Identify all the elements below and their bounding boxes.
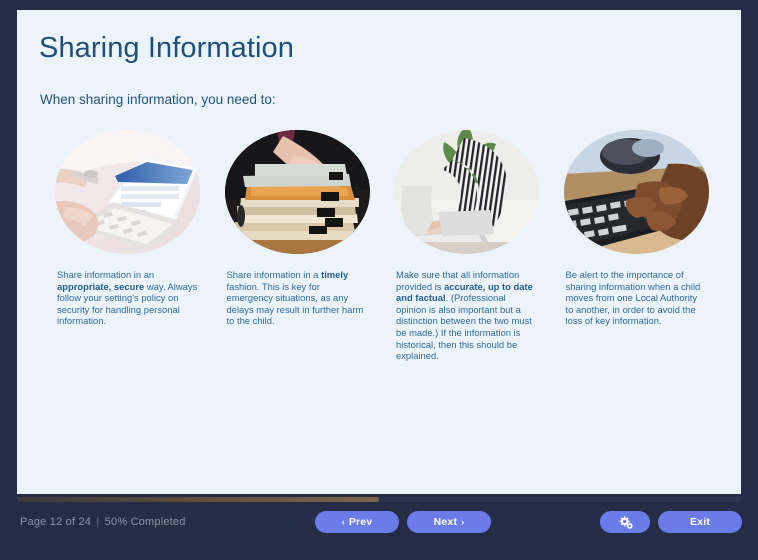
chevron-left-icon: ‹: [342, 518, 345, 527]
progress-bar-track[interactable]: [17, 497, 741, 502]
page-status: Page 12 of 24 | 50% Completed: [20, 516, 186, 528]
hands-typing-keyboard-mouse-photo: [564, 130, 709, 254]
content-column: Make sure that all information provided …: [379, 130, 549, 362]
prev-button-label: Prev: [349, 516, 373, 528]
slide-content-area: Sharing Information When sharing informa…: [17, 10, 741, 494]
player-footer: Page 12 of 24 | 50% Completed ‹ Prev Nex…: [0, 505, 758, 560]
content-columns: Share information in an appropriate, sec…: [40, 130, 718, 362]
page-number-label: Page 12 of 24: [20, 516, 91, 528]
column-text: Share information in an appropriate, sec…: [57, 269, 199, 327]
slide-subtitle: When sharing information, you need to:: [40, 92, 276, 107]
next-button-label: Next: [434, 516, 458, 528]
status-divider: |: [96, 516, 99, 528]
column-text: Share information in a timely fashion. T…: [227, 269, 369, 327]
course-player-frame: Sharing Information When sharing informa…: [0, 0, 758, 560]
hand-sorting-file-folders-photo: [225, 130, 370, 254]
column-text: Make sure that all information provided …: [396, 269, 538, 362]
chevron-right-icon: ›: [461, 518, 464, 527]
column-text: Be alert to the importance of sharing in…: [566, 269, 708, 327]
cogs-icon: [618, 516, 633, 529]
hands-typing-laptop-form-photo: [55, 130, 200, 254]
completion-label: 50% Completed: [105, 516, 186, 528]
progress-bar-fill: [17, 497, 379, 502]
person-striped-shirt-laptop-photo: [394, 130, 539, 254]
content-column: Be alert to the importance of sharing in…: [549, 130, 719, 362]
navigation-buttons: ‹ Prev Next ›: [315, 511, 491, 533]
content-column: Share information in an appropriate, sec…: [40, 130, 210, 362]
exit-button-label: Exit: [690, 516, 710, 528]
exit-button[interactable]: Exit: [658, 511, 742, 533]
next-button[interactable]: Next ›: [407, 511, 491, 533]
prev-button[interactable]: ‹ Prev: [315, 511, 399, 533]
page-title: Sharing Information: [39, 32, 294, 65]
content-column: Share information in a timely fashion. T…: [210, 130, 380, 362]
utility-buttons: Exit: [600, 511, 742, 533]
settings-button[interactable]: [600, 511, 650, 533]
